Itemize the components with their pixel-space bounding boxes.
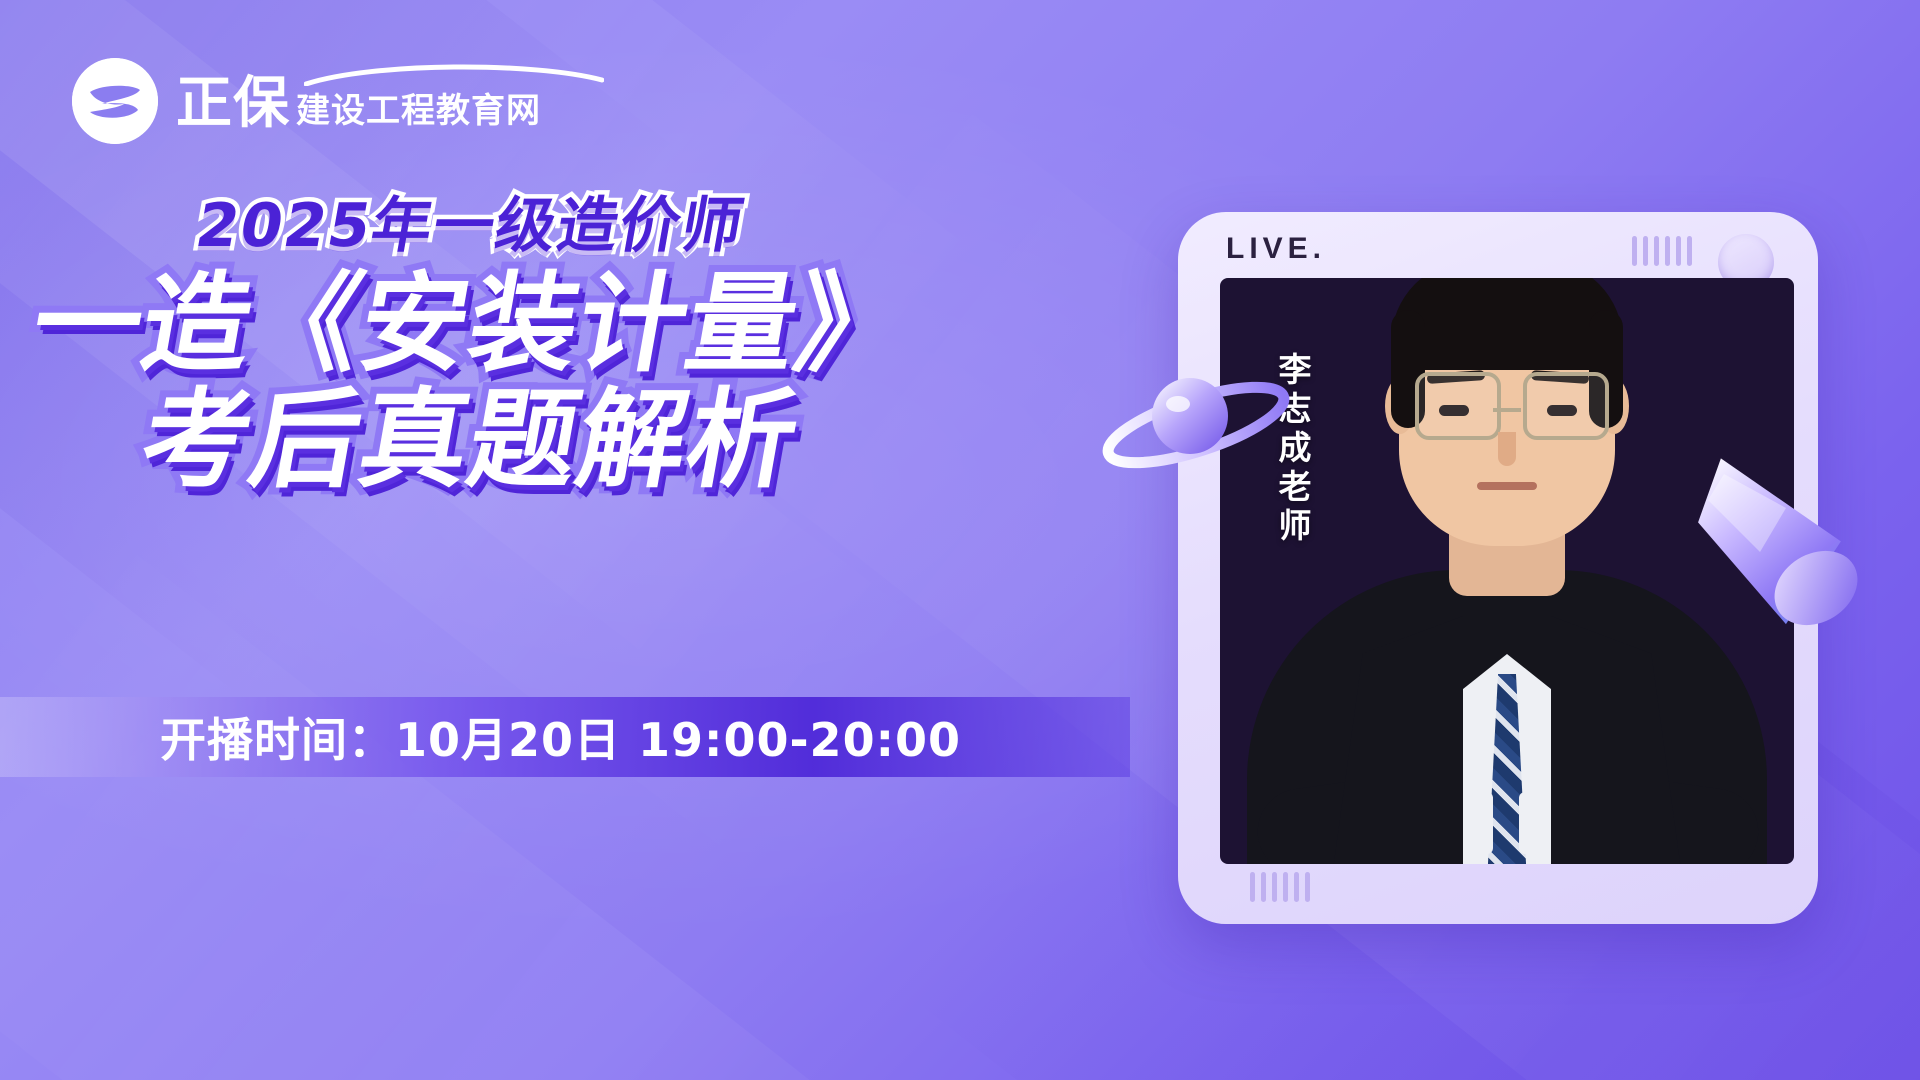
planet-icon [1098, 370, 1294, 480]
headline-line-1: 一造《安装计量》 [24, 270, 915, 380]
logo-swoosh-icon [304, 60, 604, 86]
headline-line1-row: 一造《安装计量》 [0, 256, 940, 380]
headline-kicker-row: 2025年一级造价师 [0, 196, 940, 256]
decorative-ribs-top [1632, 236, 1692, 266]
brand-name-sub: 建设工程教育网 [296, 94, 541, 128]
schedule-text: 开播时间：10月20日 19:00-20:00 [0, 704, 961, 770]
promo-banner: 正保 建设工程教育网 2025年一级造价师 一造《安装计量》 考后真题解析 开播… [0, 0, 1920, 1080]
live-label: LIVE. [1226, 232, 1326, 266]
brand-logo: 正保 建设工程教育网 [72, 58, 541, 144]
brand-wordmark: 正保 建设工程教育网 [176, 70, 541, 132]
megaphone-icon [1690, 456, 1870, 656]
background-light-streak-4 [0, 518, 1193, 1080]
headline-kicker: 2025年一级造价师 [191, 196, 749, 256]
schedule-bar: 开播时间：10月20日 19:00-20:00 [0, 697, 1130, 777]
brand-name-main: 正保 [176, 76, 290, 132]
decorative-ribs-bottom [1250, 872, 1310, 902]
headline-block: 2025年一级造价师 一造《安装计量》 考后真题解析 [0, 196, 940, 496]
headline-line-2: 考后真题解析 [133, 386, 806, 496]
headline-line2-row: 考后真题解析 [0, 380, 940, 496]
zhengbao-z-logo-icon [72, 58, 158, 144]
